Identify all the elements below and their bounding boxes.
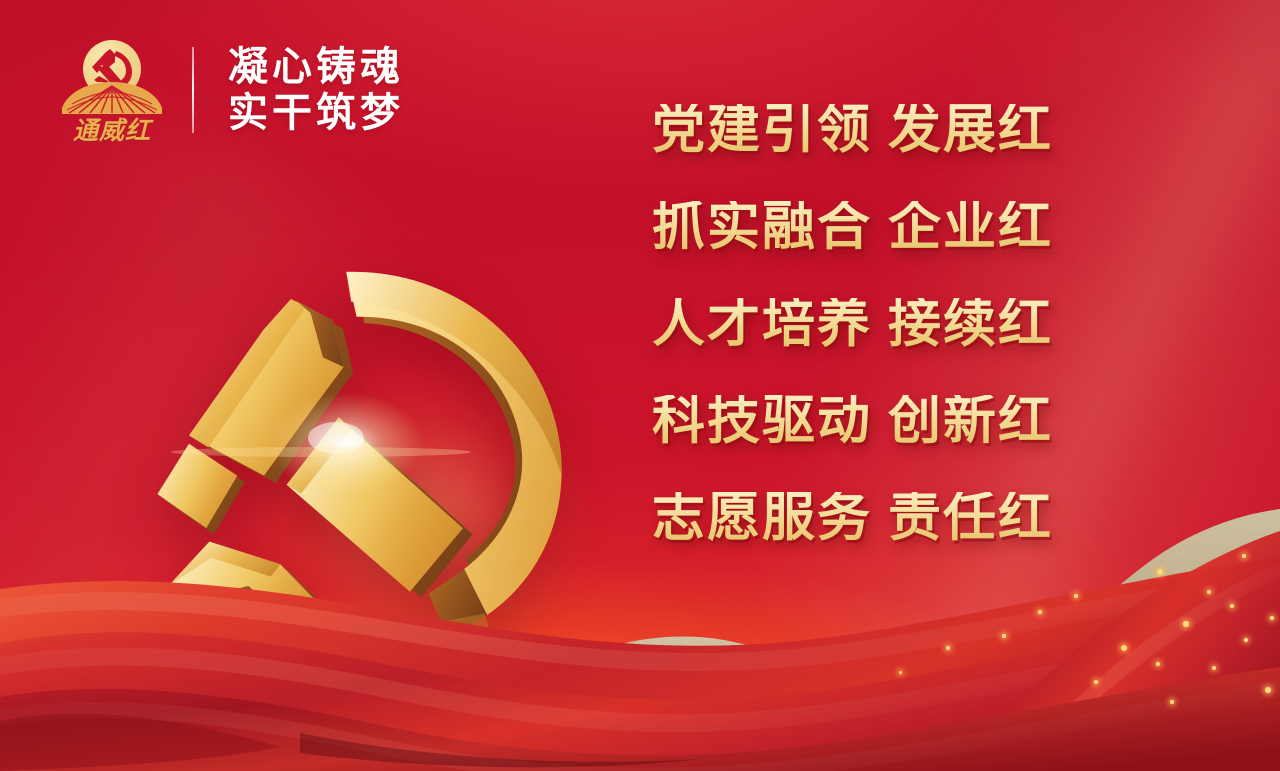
slogan-row: 人才培养 接续红 <box>652 298 1082 395</box>
vertical-divider <box>192 47 194 133</box>
red-silk-ribbon-waves <box>0 471 1280 771</box>
slogan-row: 党建引领 发展红 <box>652 104 1082 201</box>
slogan-left: 抓实融合 <box>652 201 888 254</box>
brand-slogan-line-1: 凝心铸魂 <box>228 44 404 90</box>
radiating-fan-icon <box>62 80 162 116</box>
slogan-left: 党建引领 <box>652 104 888 157</box>
logo-wordmark: 通威红 <box>62 119 162 144</box>
slogan-right: 接续红 <box>888 298 1053 351</box>
slogan-left: 科技驱动 <box>652 395 888 448</box>
slogan-row: 科技驱动 创新红 <box>652 395 1082 492</box>
poster-canvas: 通威红 凝心铸魂 实干筑梦 党建引领 发展红 抓实融合 企业红 人才培养 接续红… <box>0 0 1280 771</box>
brand-slogan-line-2: 实干筑梦 <box>228 90 404 136</box>
slogan-right: 责任红 <box>888 492 1053 545</box>
slogan-right: 发展红 <box>888 104 1053 157</box>
brand-slogan: 凝心铸魂 实干筑梦 <box>228 44 404 135</box>
brand-header: 通威红 凝心铸魂 实干筑梦 <box>62 38 404 142</box>
slogan-right: 创新红 <box>888 395 1053 448</box>
slogan-left: 人才培养 <box>652 298 888 351</box>
party-emblem-logo[interactable]: 通威红 <box>62 38 162 142</box>
slogan-row: 志愿服务 责任红 <box>652 492 1082 589</box>
slogan-left: 志愿服务 <box>652 492 888 545</box>
slogan-right: 企业红 <box>888 201 1053 254</box>
slogan-list: 党建引领 发展红 抓实融合 企业红 人才培养 接续红 科技驱动 创新红 志愿服务… <box>652 104 1082 589</box>
slogan-row: 抓实融合 企业红 <box>652 201 1082 298</box>
